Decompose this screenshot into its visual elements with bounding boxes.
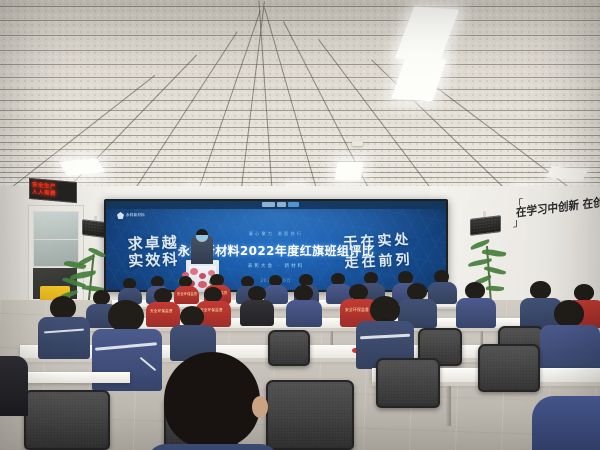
attendee-torso [38,317,90,359]
slogan-bracket-close: 」 [513,213,524,230]
chair-backrest[interactable] [266,380,354,450]
ceiling-grid-line [0,6,600,7]
ceiling-grid-line [0,100,600,101]
company-logo-text: 永祥新材料 [126,213,145,218]
attendee-head [574,284,594,301]
attendee-head [465,282,485,299]
ceiling-grid-line [0,177,600,178]
ceiling-grid-line [0,64,600,65]
presentation-toolbar-chips [262,202,299,207]
led-scrolling-sign: 安全生产 人人有责 [29,178,77,203]
ceiling-grid-line [0,77,600,78]
ceiling-grid-line [0,119,600,120]
uniform-stripe [44,329,84,334]
ceiling-grid-line [0,127,600,128]
uniform-stripe [95,342,157,350]
ceiling-grid-line [0,155,600,156]
smoke-detector-icon [352,141,363,146]
conference-room-photo: 安全生产 人人有责 「 在学习中创新 在创新中 」 永祥新材料 求卓越实效科 干 [0,0,600,450]
slide-subtitle: 表彰大会 · 新材料 [106,263,446,269]
uniform-stripe [360,334,410,339]
attendee-head [154,288,172,303]
attendee-torso [286,300,322,327]
chair-backrest[interactable] [478,344,540,392]
attendee-head [50,296,76,319]
attendee-torso [456,298,496,328]
attendee-torso [240,300,274,326]
foreground-attendee-torso [532,396,600,450]
plant-leaf [482,248,507,259]
slide-title: 永祥新材料2022年度红旗班组评比 [106,242,446,259]
attendee-head [248,286,266,301]
presenter-face-mask [196,235,208,241]
slide-logo: 永祥新材料 [117,212,145,219]
attendee-head [204,287,222,302]
flower [190,268,198,275]
attendee-head [180,306,204,327]
ceiling-grid-line [0,89,600,90]
uniform-back-text: 安全环保监督 [150,309,173,314]
attendee-head [349,284,368,300]
toolbar-chip [277,202,286,207]
attendee-head [407,283,427,300]
suspended-ceiling [0,0,600,195]
ceiling-grid-line [0,182,600,183]
chair-backrest[interactable] [24,390,110,450]
company-logo-icon [117,212,124,219]
attendee-head [530,281,551,299]
attendee-head [93,290,110,305]
foreground-attendee-head [164,352,260,448]
ceiling-grid-line [0,20,600,21]
desk-leg [446,386,451,426]
slide-eyebrow: 凝心聚力 勇毅前行 [106,231,446,237]
toolbar-chip-active [288,202,299,207]
plant-leaf [70,270,97,280]
attendee-head [554,300,584,327]
attendee-head [108,300,144,332]
attendee-torso: 安全环保监督 [146,302,180,327]
attendee-torso: 安全环保监督 [174,286,199,304]
foreground-attendee-ear [252,396,268,418]
flower [199,273,206,279]
ceiling-light-panel [335,162,364,180]
uniform-stripe [140,357,157,371]
foreground-attendee-torso [0,356,28,416]
ceiling-grid-line [0,149,600,150]
ceiling-grid-line [0,35,600,36]
foreground-attendee-torso [146,444,280,450]
toolbar-chip [262,202,275,207]
ceiling-grid-line [0,110,600,111]
chair-backrest[interactable] [268,330,310,366]
uniform-back-text: 安全环保监督 [345,307,369,313]
ceiling-grid-line [0,50,600,51]
chair-backrest[interactable] [376,358,440,408]
uniform-back-text: 安全环保监督 [177,291,197,296]
attendee-head [294,285,313,301]
